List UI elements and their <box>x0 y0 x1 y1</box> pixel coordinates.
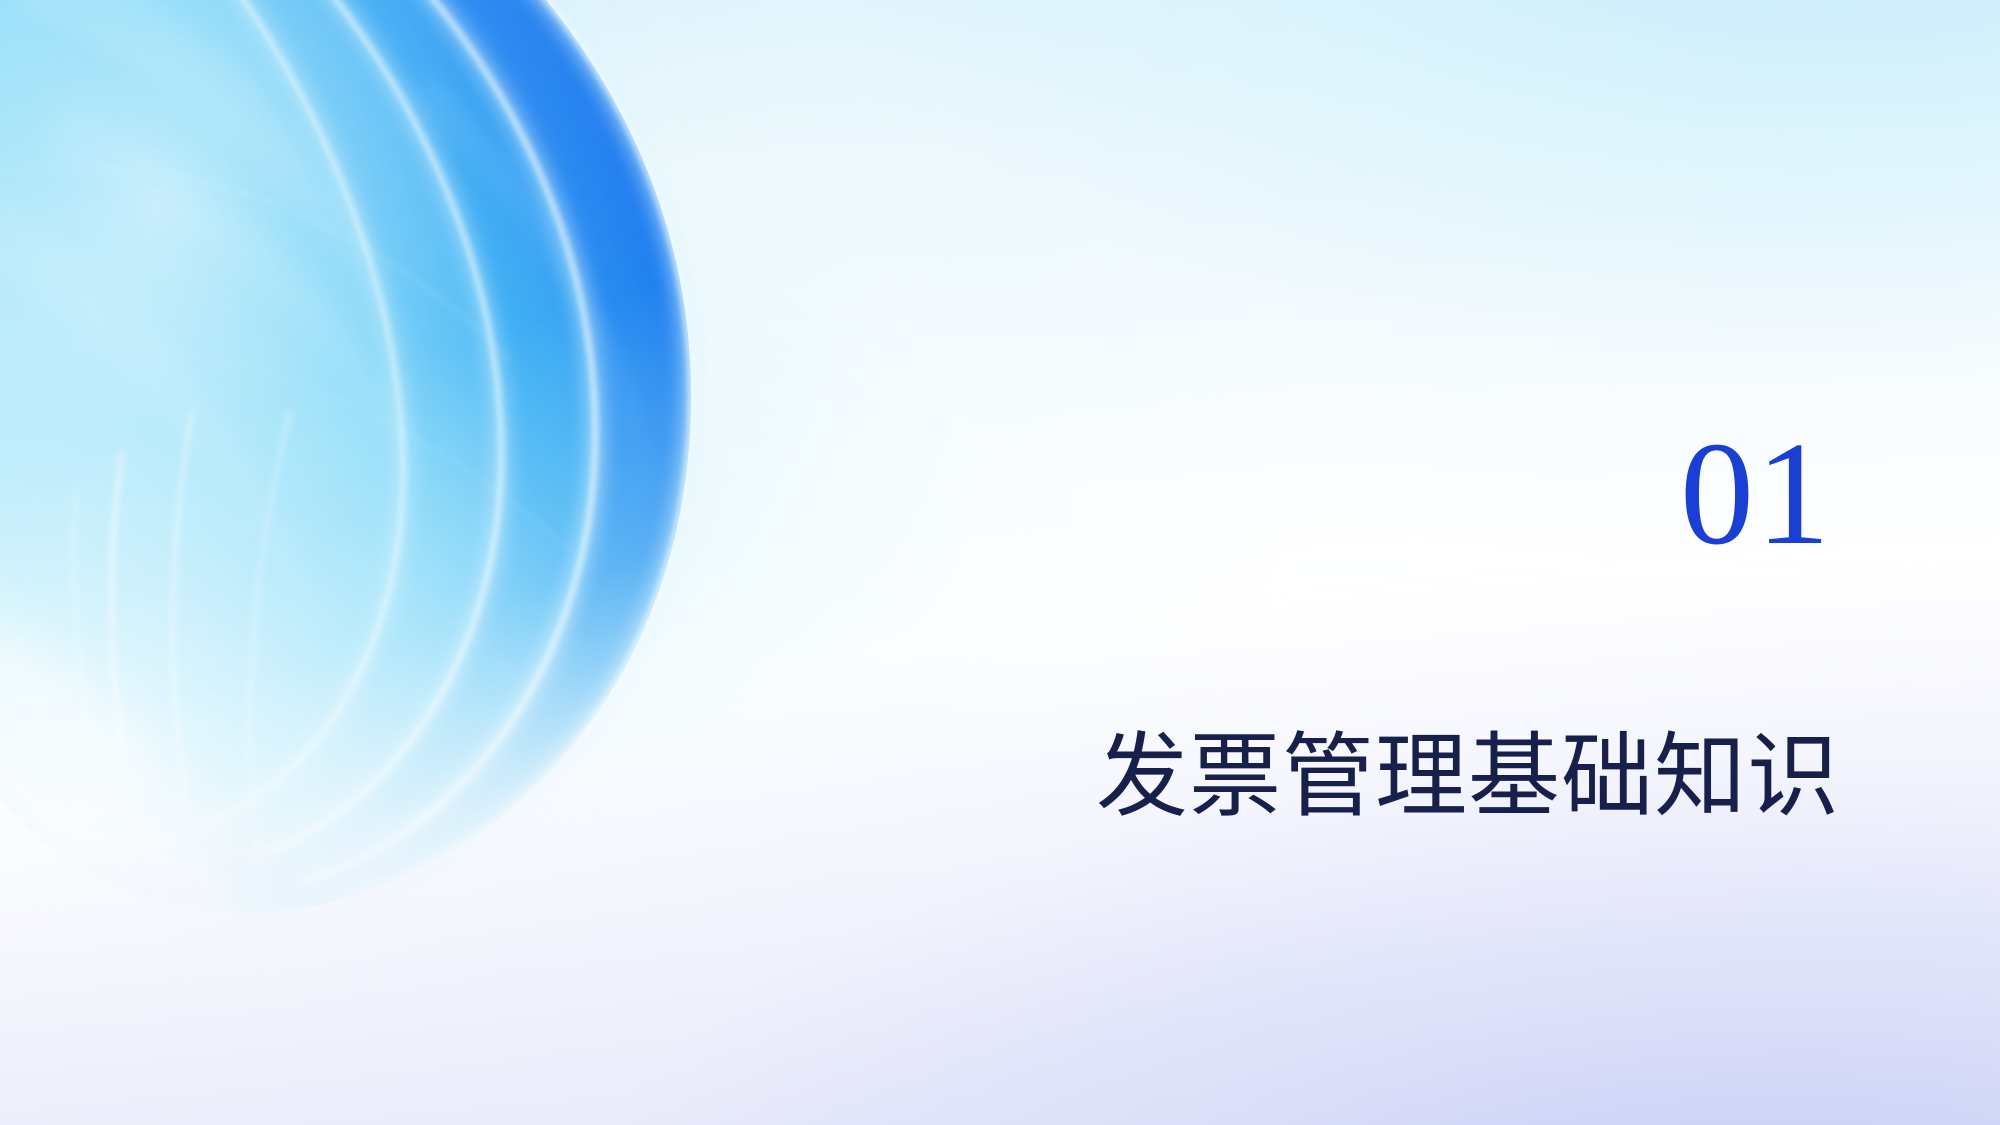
petal-loop-3 <box>0 0 502 867</box>
petal-stems <box>74 410 290 928</box>
interior-highlights <box>0 0 650 630</box>
petal-loop-outer <box>0 0 691 913</box>
petal-loop-inner <box>0 0 404 834</box>
filaments <box>0 30 570 680</box>
petal-loop-2 <box>0 0 595 892</box>
section-divider-slide: 01 发票管理基础知识 <box>0 0 2000 1125</box>
abstract-blue-petal-ribbons-graphic <box>0 0 830 1030</box>
section-text-block: 01 发票管理基础知识 <box>1096 420 1836 827</box>
page-title: 发票管理基础知识 <box>1096 728 1836 827</box>
section-number: 01 <box>1096 420 1836 568</box>
